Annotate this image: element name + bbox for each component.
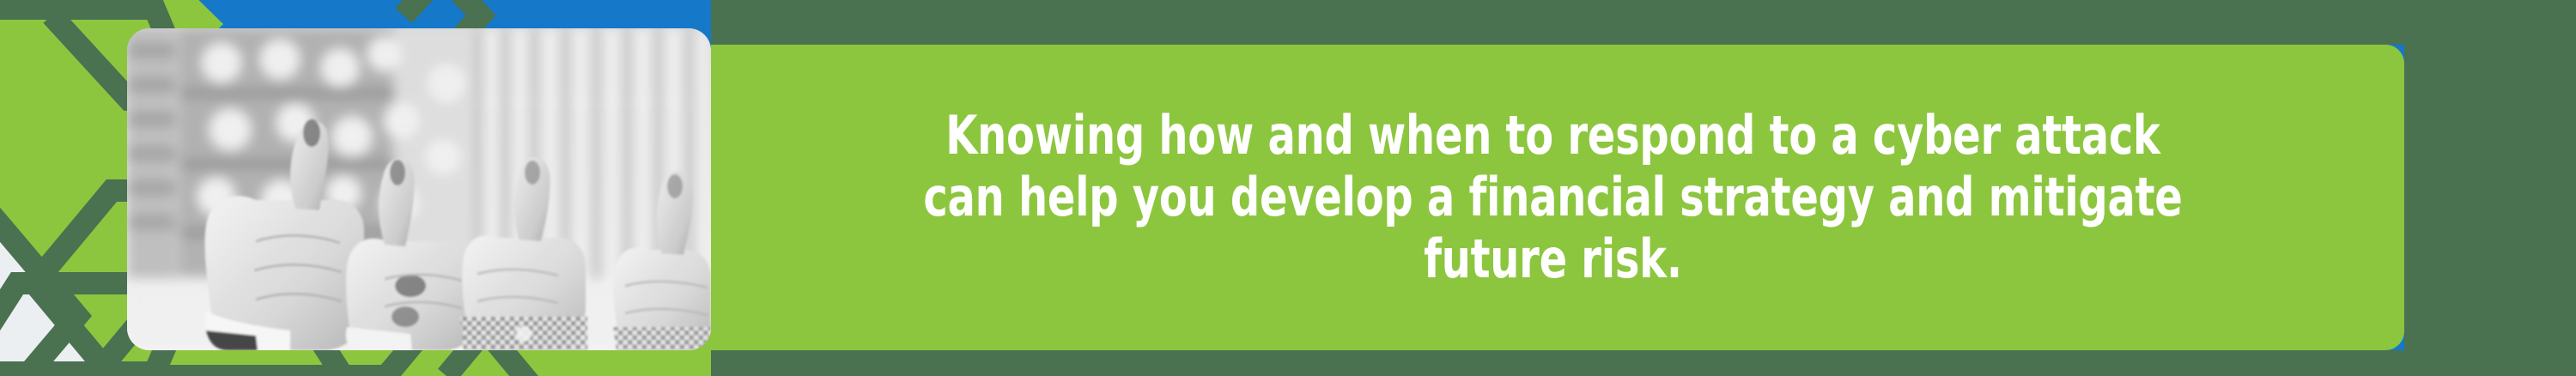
- promo-banner: Knowing how and when to respond to a cyb…: [0, 0, 2576, 376]
- panel-bottom-gutter: [711, 350, 2576, 376]
- panel-top-gutter: [711, 0, 2576, 45]
- headline-line-1: Knowing how and when to respond to a cyb…: [923, 105, 2182, 167]
- thumbs-up-photo-graphic: [127, 28, 711, 350]
- panel-right-gutter: [2404, 0, 2576, 376]
- thumbs-up-photo: [127, 28, 711, 350]
- headline: Knowing how and when to respond to a cyb…: [923, 105, 2182, 290]
- message-panel: Knowing how and when to respond to a cyb…: [711, 45, 2404, 350]
- headline-line-2: can help you develop a financial strateg…: [923, 167, 2182, 228]
- headline-line-3: future risk.: [923, 228, 2182, 290]
